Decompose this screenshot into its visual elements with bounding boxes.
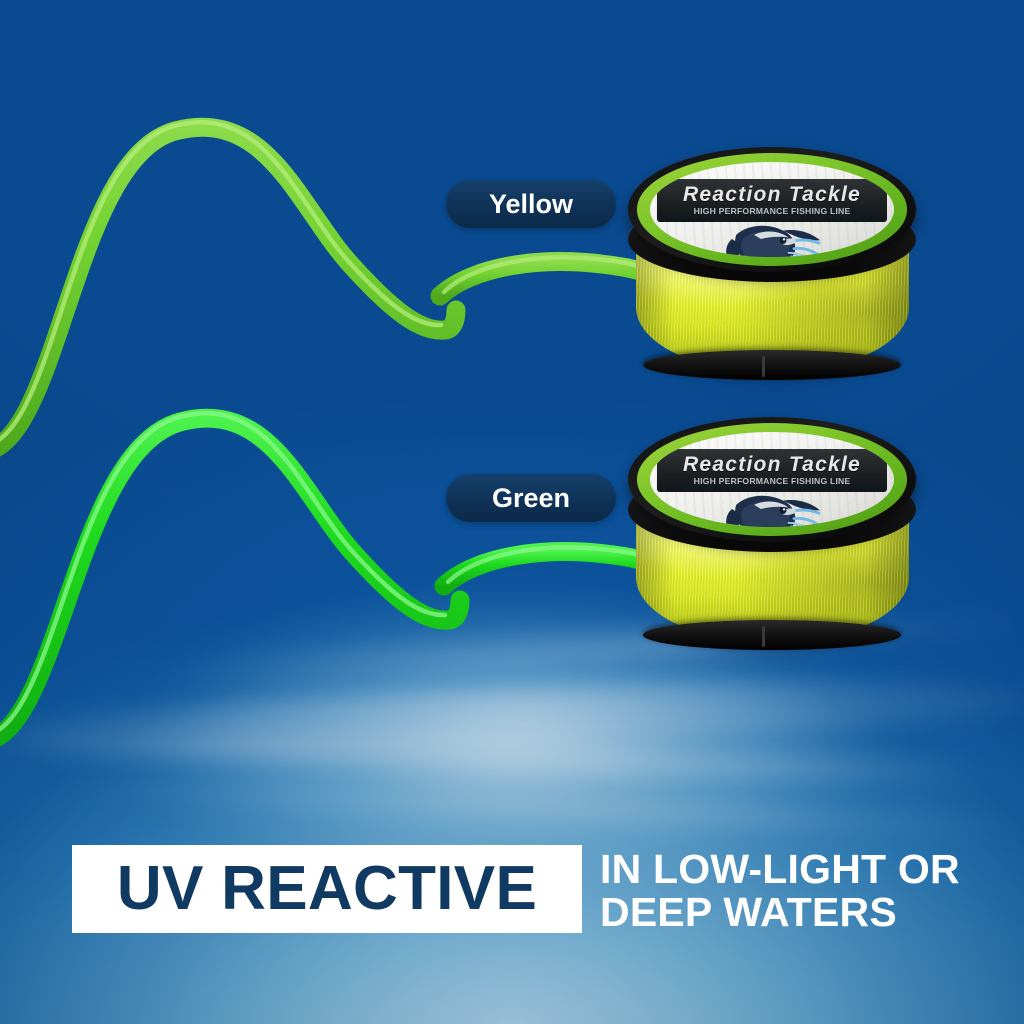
spool-label: Reaction Tackle HIGH PERFORMANCE FISHING… — [650, 162, 895, 257]
tagline-line-1: IN LOW-LIGHT OR — [600, 846, 960, 892]
label-header-bar: Reaction Tackle HIGH PERFORMANCE FISHING… — [657, 179, 887, 222]
callout-yellow[interactable]: Yellow — [446, 180, 616, 228]
tagline-line-2: DEEP WATERS — [600, 891, 1000, 934]
brand-name: Reaction Tackle — [657, 184, 887, 205]
banner-tagline: IN LOW-LIGHT OR DEEP WATERS — [600, 848, 1000, 935]
brand-name: Reaction Tackle — [657, 454, 887, 475]
uv-reactive-headline: UV REACTIVE — [117, 858, 537, 920]
bass-fish-icon — [716, 217, 828, 257]
spool-green[interactable]: Reaction Tackle HIGH PERFORMANCE FISHING… — [622, 412, 922, 662]
product-marketing-image: Reaction Tackle HIGH PERFORMANCE FISHING… — [0, 0, 1024, 1024]
spool-bottom-rim — [643, 350, 901, 380]
bass-fish-icon — [716, 487, 828, 527]
spool-label: Reaction Tackle HIGH PERFORMANCE FISHING… — [650, 432, 895, 527]
uv-reactive-headline-box: UV REACTIVE — [72, 845, 582, 933]
brand-tagline: HIGH PERFORMANCE FISHING LINE — [655, 207, 890, 216]
brand-tagline: HIGH PERFORMANCE FISHING LINE — [655, 477, 890, 486]
spool-bottom-rim — [643, 620, 901, 650]
label-header-bar: Reaction Tackle HIGH PERFORMANCE FISHING… — [657, 449, 887, 492]
spool-label-disc: Reaction Tackle HIGH PERFORMANCE FISHING… — [628, 417, 916, 542]
callout-green[interactable]: Green — [446, 474, 616, 522]
spool-label-disc: Reaction Tackle HIGH PERFORMANCE FISHING… — [628, 147, 916, 272]
upper-fishing-line — [0, 122, 676, 452]
spool-yellow[interactable]: Reaction Tackle HIGH PERFORMANCE FISHING… — [622, 142, 922, 392]
lower-fishing-line — [0, 413, 680, 742]
